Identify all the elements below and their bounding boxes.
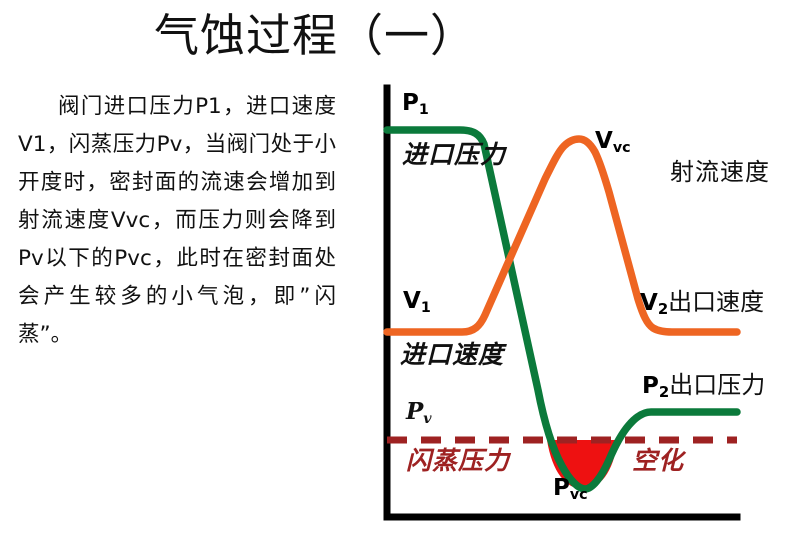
label-p1: P1 [402, 92, 429, 115]
label-flashing-pressure: 闪蒸压力 [406, 448, 510, 473]
body-paragraph: 阀门进口压力P1，进口速度V1，闪蒸压力Pv，当阀门处于小开度时，密封面的流速会… [18, 88, 336, 354]
page-title: 气蚀过程（一） [0, 6, 790, 66]
label-jet-velocity: 射流速度 [670, 160, 770, 184]
label-inlet-velocity: 进口速度 [400, 342, 504, 367]
label-v1: V1 [403, 290, 431, 313]
label-vvc: Vvc [595, 130, 631, 153]
label-inlet-pressure: 进口压力 [402, 142, 506, 167]
label-cavitation: 空化 [632, 448, 684, 473]
label-pv: Pv [406, 400, 432, 423]
label-outlet-pressure: P2出口压力 [642, 373, 765, 398]
label-pvc: Pvc [553, 477, 588, 500]
slide-canvas: 气蚀过程（一） 阀门进口压力P1，进口速度V1，闪蒸压力Pv，当阀门处于小开度时… [0, 0, 790, 535]
cavitation-diagram: P1 进口压力 Vvc 射流速度 V1 进口速度 V2出口速度 P2出口压力 P… [370, 80, 785, 530]
label-outlet-velocity: V2出口速度 [640, 290, 764, 315]
